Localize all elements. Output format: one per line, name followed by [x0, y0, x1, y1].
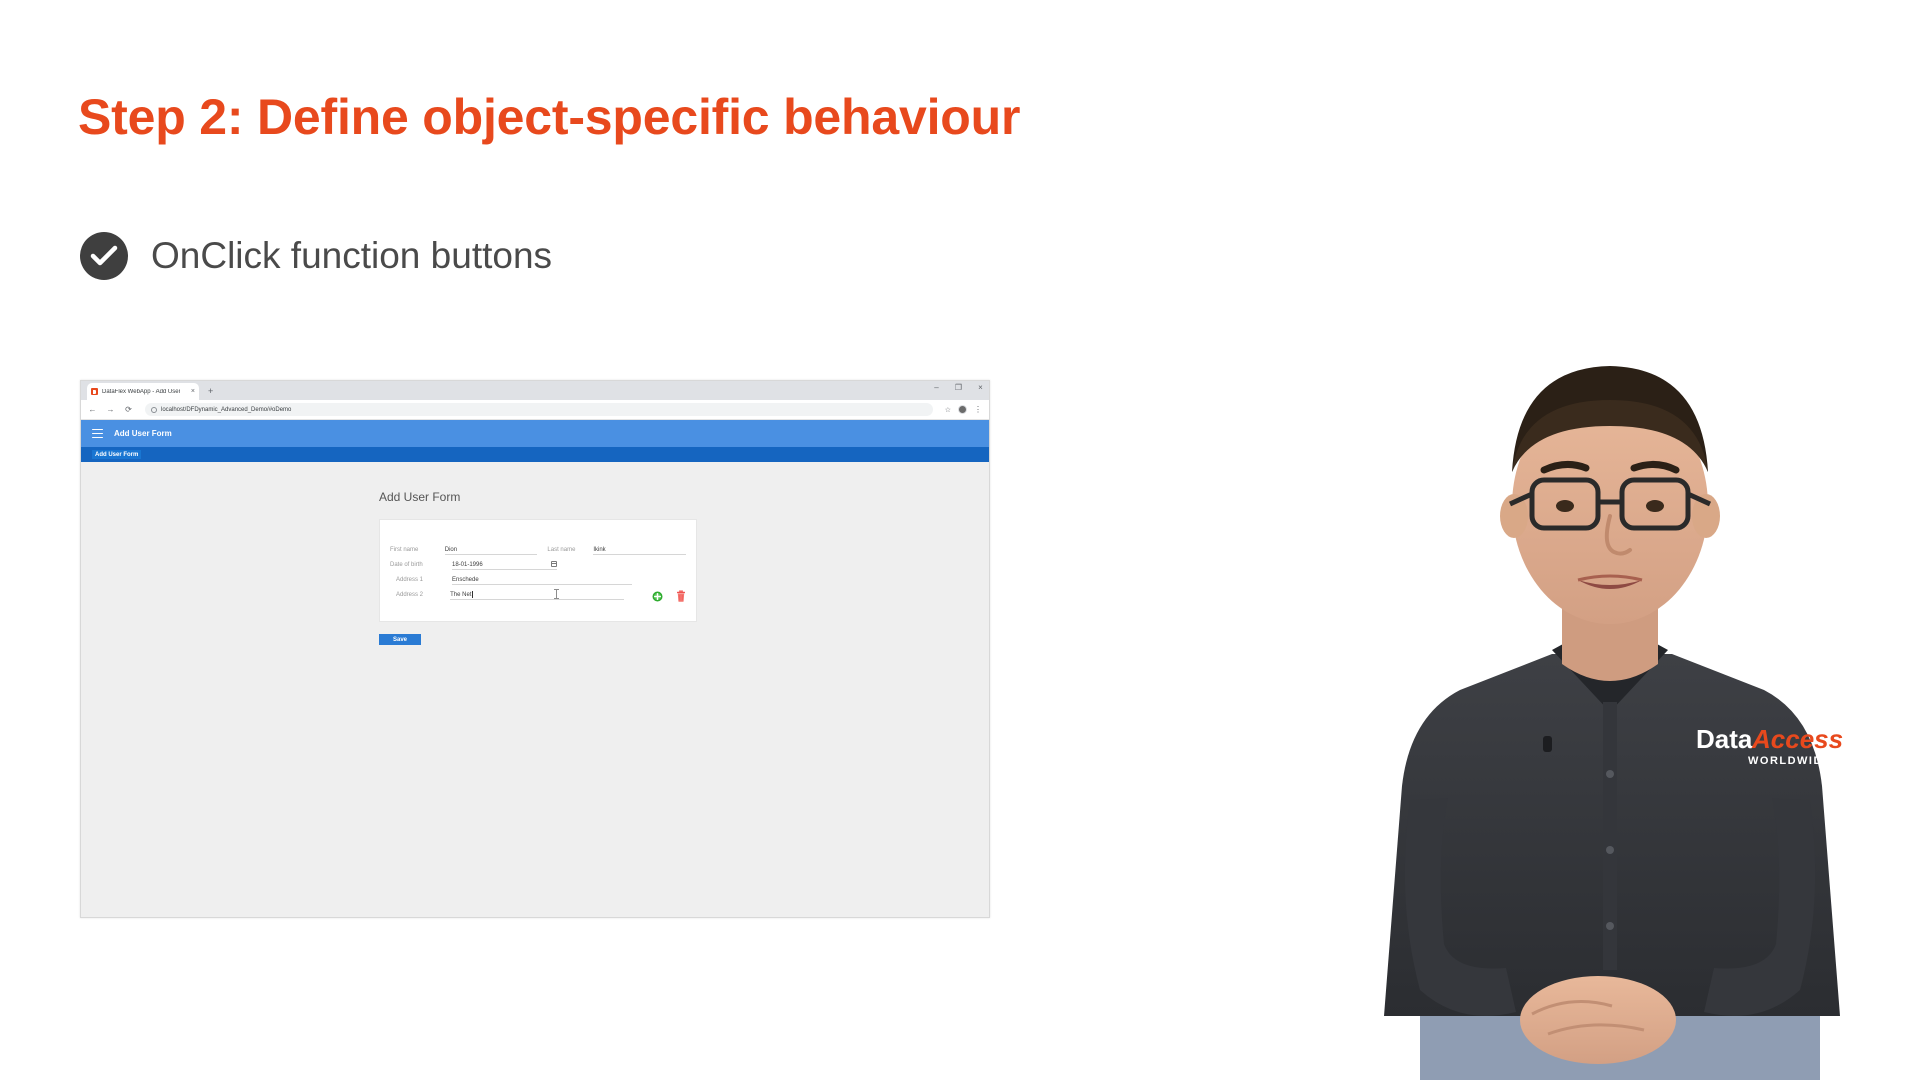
- maximize-button[interactable]: ❐: [954, 384, 963, 392]
- app-body: Add User Form First name Dion Last name …: [81, 462, 989, 918]
- browser-tab-title: DataFlex WebApp - Add User Fo: [102, 389, 180, 395]
- form-row-names: First name Dion Last name Ikink: [390, 542, 686, 557]
- app-header-title: Add User Form: [114, 429, 172, 438]
- browser-tabstrip: DataFlex WebApp - Add User Fo × + – ❐ ×: [81, 381, 989, 400]
- row-action-buttons: [652, 589, 686, 601]
- address-bar[interactable]: localhost/DFDynamic_Advanced_Demo/#oDemo: [145, 403, 933, 416]
- site-info-icon[interactable]: [151, 407, 157, 413]
- logo-subtitle: WORLDWIDE: [1748, 755, 1832, 767]
- date-of-birth-value: 18-01-1996: [452, 562, 483, 568]
- address-1-label: Address 1: [390, 577, 452, 583]
- address-1-input[interactable]: Enschede: [452, 574, 632, 585]
- logo-accent: Access: [1751, 724, 1843, 754]
- form-grid: First name Dion Last name Ikink Date of …: [390, 542, 686, 602]
- form-row-address-1: Address 1 Enschede: [390, 572, 686, 587]
- address-2-label: Address 2: [390, 592, 450, 598]
- text-caret: [472, 591, 473, 598]
- form-row-address-2: Address 2 The Net: [390, 587, 686, 602]
- save-button[interactable]: Save: [379, 634, 421, 645]
- date-of-birth-input[interactable]: 18-01-1996: [452, 559, 557, 570]
- first-name-input[interactable]: Dion: [445, 544, 538, 555]
- browser-window: DataFlex WebApp - Add User Fo × + – ❐ × …: [80, 380, 990, 918]
- tab-add-user-form[interactable]: Add User Form: [92, 450, 141, 459]
- bookmark-star-icon[interactable]: ☆: [945, 406, 951, 414]
- close-icon[interactable]: ×: [191, 388, 195, 395]
- window-controls: – ❐ ×: [932, 384, 985, 392]
- last-name-input[interactable]: Ikink: [593, 544, 686, 555]
- dataflex-favicon-icon: [91, 388, 98, 395]
- bullet-item: OnClick function buttons: [80, 232, 552, 280]
- app-tabbar: Add User Form: [81, 447, 989, 462]
- text-cursor-icon: [554, 589, 559, 599]
- presenter-video: Data Access WORLDWIDE: [1300, 330, 1920, 1080]
- form-heading: Add User Form: [379, 490, 460, 504]
- check-circle-icon: [80, 232, 128, 280]
- hamburger-icon[interactable]: [92, 429, 103, 439]
- reload-icon[interactable]: ⟳: [124, 406, 133, 414]
- kebab-menu-icon[interactable]: ⋮: [974, 405, 982, 414]
- calendar-icon[interactable]: [551, 561, 557, 567]
- add-circle-icon[interactable]: [652, 589, 663, 600]
- delete-trash-icon[interactable]: [676, 589, 686, 601]
- back-icon[interactable]: ←: [88, 406, 97, 414]
- address-bar-url: localhost/DFDynamic_Advanced_Demo/#oDemo: [161, 407, 291, 413]
- window-close-button[interactable]: ×: [976, 384, 985, 392]
- logo-primary: Data: [1696, 724, 1753, 754]
- browser-tab[interactable]: DataFlex WebApp - Add User Fo ×: [87, 383, 199, 400]
- last-name-label: Last name: [537, 547, 593, 553]
- forward-icon[interactable]: →: [106, 406, 115, 414]
- address-2-value: The Net: [450, 592, 471, 598]
- app-header: Add User Form: [81, 420, 989, 447]
- page-title: Step 2: Define object-specific behaviour: [78, 88, 1020, 146]
- minimize-button[interactable]: –: [932, 384, 941, 392]
- date-of-birth-label: Date of birth: [390, 562, 452, 568]
- add-user-form-card: First name Dion Last name Ikink Date of …: [379, 519, 697, 622]
- browser-toolbar: ← → ⟳ localhost/DFDynamic_Advanced_Demo/…: [81, 400, 989, 420]
- slide-root: Step 2: Define object-specific behaviour…: [0, 0, 1920, 1080]
- new-tab-button[interactable]: +: [208, 383, 213, 400]
- address-2-input[interactable]: The Net: [450, 589, 624, 600]
- form-row-dob: Date of birth 18-01-1996: [390, 557, 686, 572]
- toolbar-right-actions: ☆ ⋮: [945, 405, 982, 414]
- first-name-label: First name: [390, 547, 445, 553]
- profile-avatar-icon[interactable]: [958, 405, 967, 414]
- bullet-label: OnClick function buttons: [151, 235, 552, 277]
